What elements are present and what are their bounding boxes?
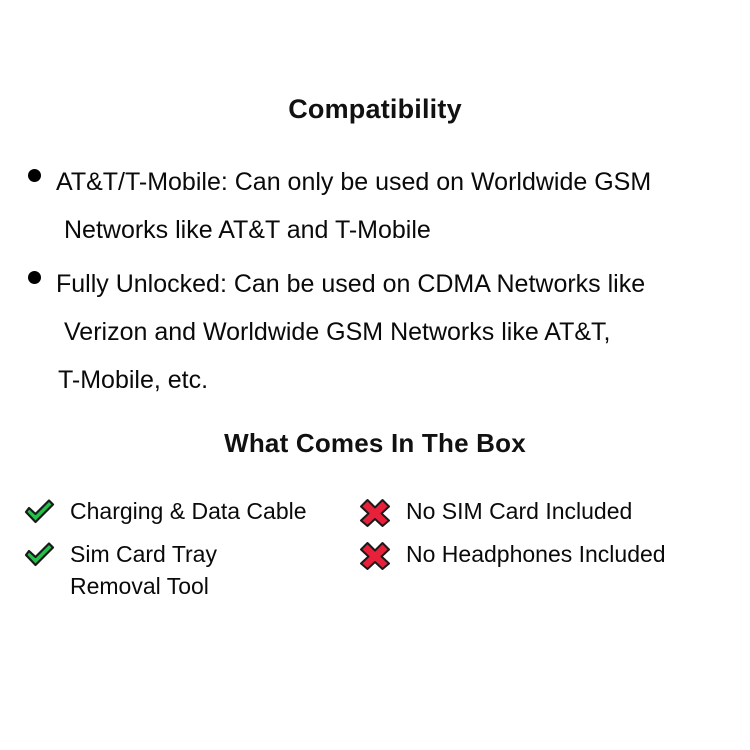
bullet-dot-icon [28, 271, 41, 284]
list-item: Charging & Data Cable [22, 495, 355, 531]
box-contents-heading: What Comes In The Box [0, 428, 750, 459]
red-cross-icon [358, 540, 392, 570]
red-cross-icon [358, 497, 392, 527]
compatibility-bullet-2-line-3: T-Mobile, etc. [56, 356, 738, 404]
compatibility-bullet-2-line-1: Fully Unlocked: Can be used on CDMA Netw… [56, 260, 738, 308]
included-item-label: Charging & Data Cable [70, 495, 307, 527]
not-included-item-label: No SIM Card Included [406, 495, 632, 527]
not-included-item-label: No Headphones Included [406, 538, 666, 570]
product-info-panel: Compatibility AT&T/T-Mobile: Can only be… [0, 0, 750, 750]
green-check-icon [22, 540, 56, 570]
included-item-label: Sim Card Tray Removal Tool [70, 538, 217, 602]
list-item: AT&T/T-Mobile: Can only be used on World… [0, 158, 750, 254]
list-item: No Headphones Included [358, 538, 750, 574]
list-item: Sim Card Tray Removal Tool [22, 538, 355, 602]
included-column: Charging & Data Cable Sim Card Tray Remo… [0, 495, 355, 609]
compatibility-heading: Compatibility [0, 94, 750, 125]
green-check-icon [22, 497, 56, 527]
compatibility-bullet-2-line-2: Verizon and Worldwide GSM Networks like … [56, 308, 738, 356]
box-contents-grid: Charging & Data Cable Sim Card Tray Remo… [0, 495, 750, 609]
compatibility-bullet-1-line-2: Networks like AT&T and T-Mobile [56, 206, 738, 254]
not-included-column: No SIM Card Included No Headphones Inclu… [355, 495, 750, 609]
compatibility-bullet-1-line-1: AT&T/T-Mobile: Can only be used on World… [56, 158, 738, 206]
list-item: Fully Unlocked: Can be used on CDMA Netw… [0, 260, 750, 404]
compatibility-list: AT&T/T-Mobile: Can only be used on World… [0, 158, 750, 410]
list-item: No SIM Card Included [358, 495, 750, 531]
bullet-dot-icon [28, 169, 41, 182]
